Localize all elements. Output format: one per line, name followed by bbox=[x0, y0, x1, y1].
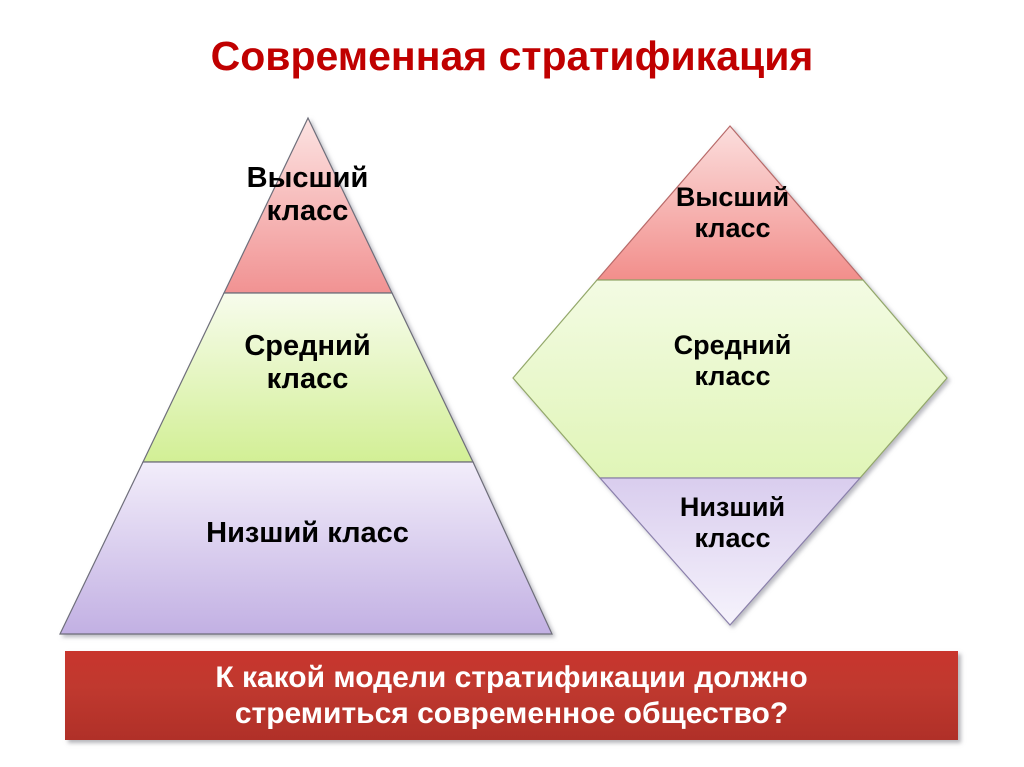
diamond-figure[interactable] bbox=[513, 126, 947, 625]
pyramid-band-middle[interactable] bbox=[143, 293, 473, 462]
pyramid-band-upper[interactable] bbox=[224, 118, 392, 293]
question-banner: К какой модели стратификации должно стре… bbox=[65, 651, 958, 740]
diamond-band-lower[interactable] bbox=[600, 478, 860, 625]
diamond-band-middle[interactable] bbox=[513, 280, 947, 478]
slide-canvas: Современная стратификация bbox=[0, 0, 1024, 767]
diamond-band-upper[interactable] bbox=[597, 126, 863, 280]
question-banner-text: К какой модели стратификации должно стре… bbox=[205, 660, 817, 731]
pyramid-band-lower[interactable] bbox=[60, 462, 552, 634]
pyramid-figure[interactable] bbox=[60, 118, 552, 634]
